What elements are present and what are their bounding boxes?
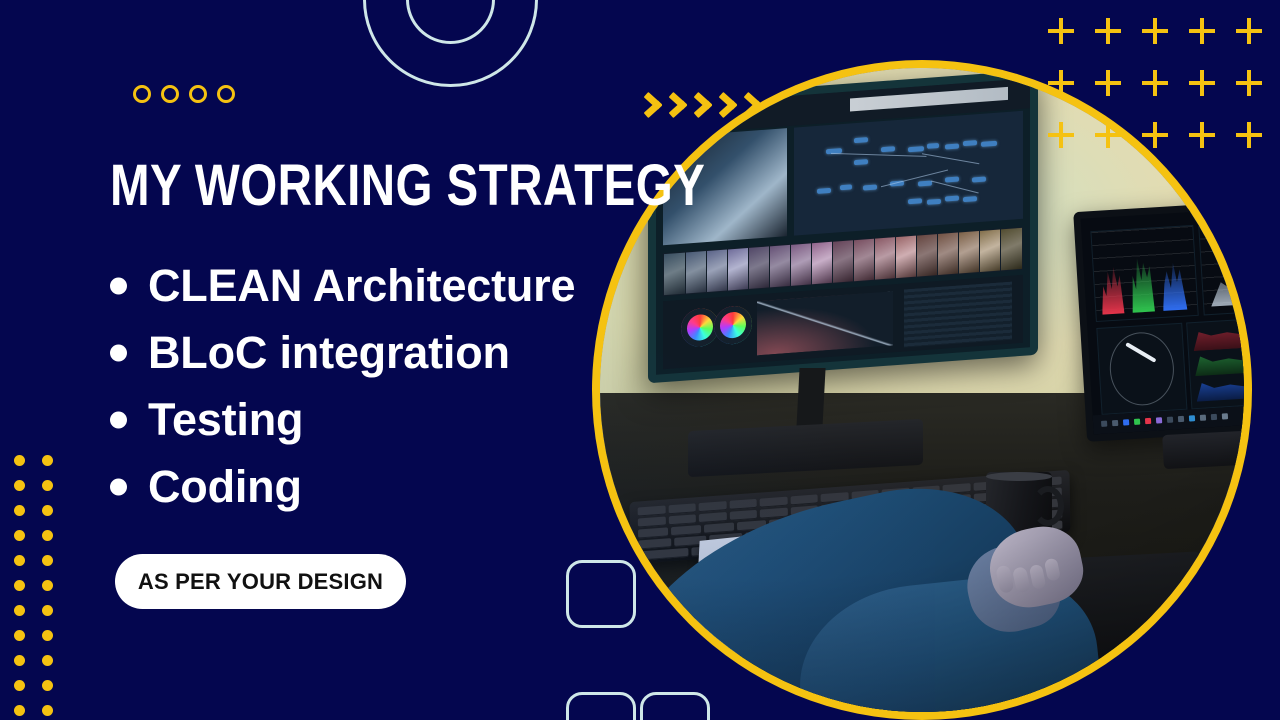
- chevron-right-icon: [720, 82, 742, 126]
- chevron-right-icon: [645, 82, 667, 126]
- rounded-square-outline-1: [566, 560, 636, 628]
- plus-icon: [1189, 122, 1215, 148]
- dot-icon: [42, 705, 53, 716]
- dot-icon: [14, 455, 25, 466]
- as-per-your-design-button[interactable]: AS PER YOUR DESIGN: [115, 554, 406, 609]
- dot-icon: [42, 555, 53, 566]
- plus-icon: [1095, 122, 1121, 148]
- dot-icon: [42, 605, 53, 616]
- ring-icon: [217, 85, 235, 103]
- chevron-right-icon: [695, 82, 717, 126]
- plus-icon: [1236, 122, 1262, 148]
- dot-icon: [42, 480, 53, 491]
- feature-bullet-list: CLEAN ArchitectureBLoC integrationTestin…: [100, 252, 660, 520]
- rounded-square-outline-3: [640, 692, 710, 720]
- poster-canvas: MY WORKING STRATEGY CLEAN ArchitectureBL…: [0, 0, 1280, 720]
- plus-icon: [1095, 18, 1121, 44]
- plus-icon: [1142, 70, 1168, 96]
- dot-icon: [14, 555, 25, 566]
- ring-row-decoration: [133, 85, 233, 107]
- plus-icon: [1048, 122, 1074, 148]
- plus-icon: [1142, 122, 1168, 148]
- dot-icon: [42, 455, 53, 466]
- plus-icon: [1236, 70, 1262, 96]
- plus-grid-decoration: [1048, 18, 1280, 148]
- dot-icon: [14, 680, 25, 691]
- ring-icon: [133, 85, 151, 103]
- dot-icon: [14, 505, 25, 516]
- dot-icon: [14, 655, 25, 666]
- plus-icon: [1048, 70, 1074, 96]
- plus-icon: [1189, 70, 1215, 96]
- dot-icon: [14, 580, 25, 591]
- dot-icon: [42, 580, 53, 591]
- feature-bullet-item: CLEAN Architecture: [100, 252, 660, 319]
- plus-icon: [1095, 70, 1121, 96]
- dot-grid-decoration: [0, 455, 66, 720]
- chevron-row-decoration: [645, 82, 770, 126]
- dot-icon: [42, 655, 53, 666]
- dot-icon: [14, 605, 25, 616]
- page-title: MY WORKING STRATEGY: [110, 157, 705, 215]
- dot-icon: [42, 630, 53, 641]
- dot-icon: [42, 505, 53, 516]
- feature-bullet-item: BLoC integration: [100, 319, 660, 386]
- plus-icon: [1189, 18, 1215, 44]
- ring-icon: [161, 85, 179, 103]
- dot-icon: [14, 630, 25, 641]
- rounded-square-outline-2: [566, 692, 636, 720]
- chevron-right-icon: [745, 82, 767, 126]
- plus-icon: [1048, 18, 1074, 44]
- dot-icon: [14, 705, 25, 716]
- dot-icon: [42, 680, 53, 691]
- feature-bullet-item: Testing: [100, 386, 660, 453]
- ring-icon: [189, 85, 207, 103]
- chevron-right-icon: [670, 82, 692, 126]
- plus-icon: [1142, 18, 1168, 44]
- cta-label: AS PER YOUR DESIGN: [138, 569, 383, 595]
- dot-icon: [14, 530, 25, 541]
- dot-icon: [42, 530, 53, 541]
- feature-bullet-item: Coding: [100, 453, 660, 520]
- plus-icon: [1236, 18, 1262, 44]
- dot-icon: [14, 480, 25, 491]
